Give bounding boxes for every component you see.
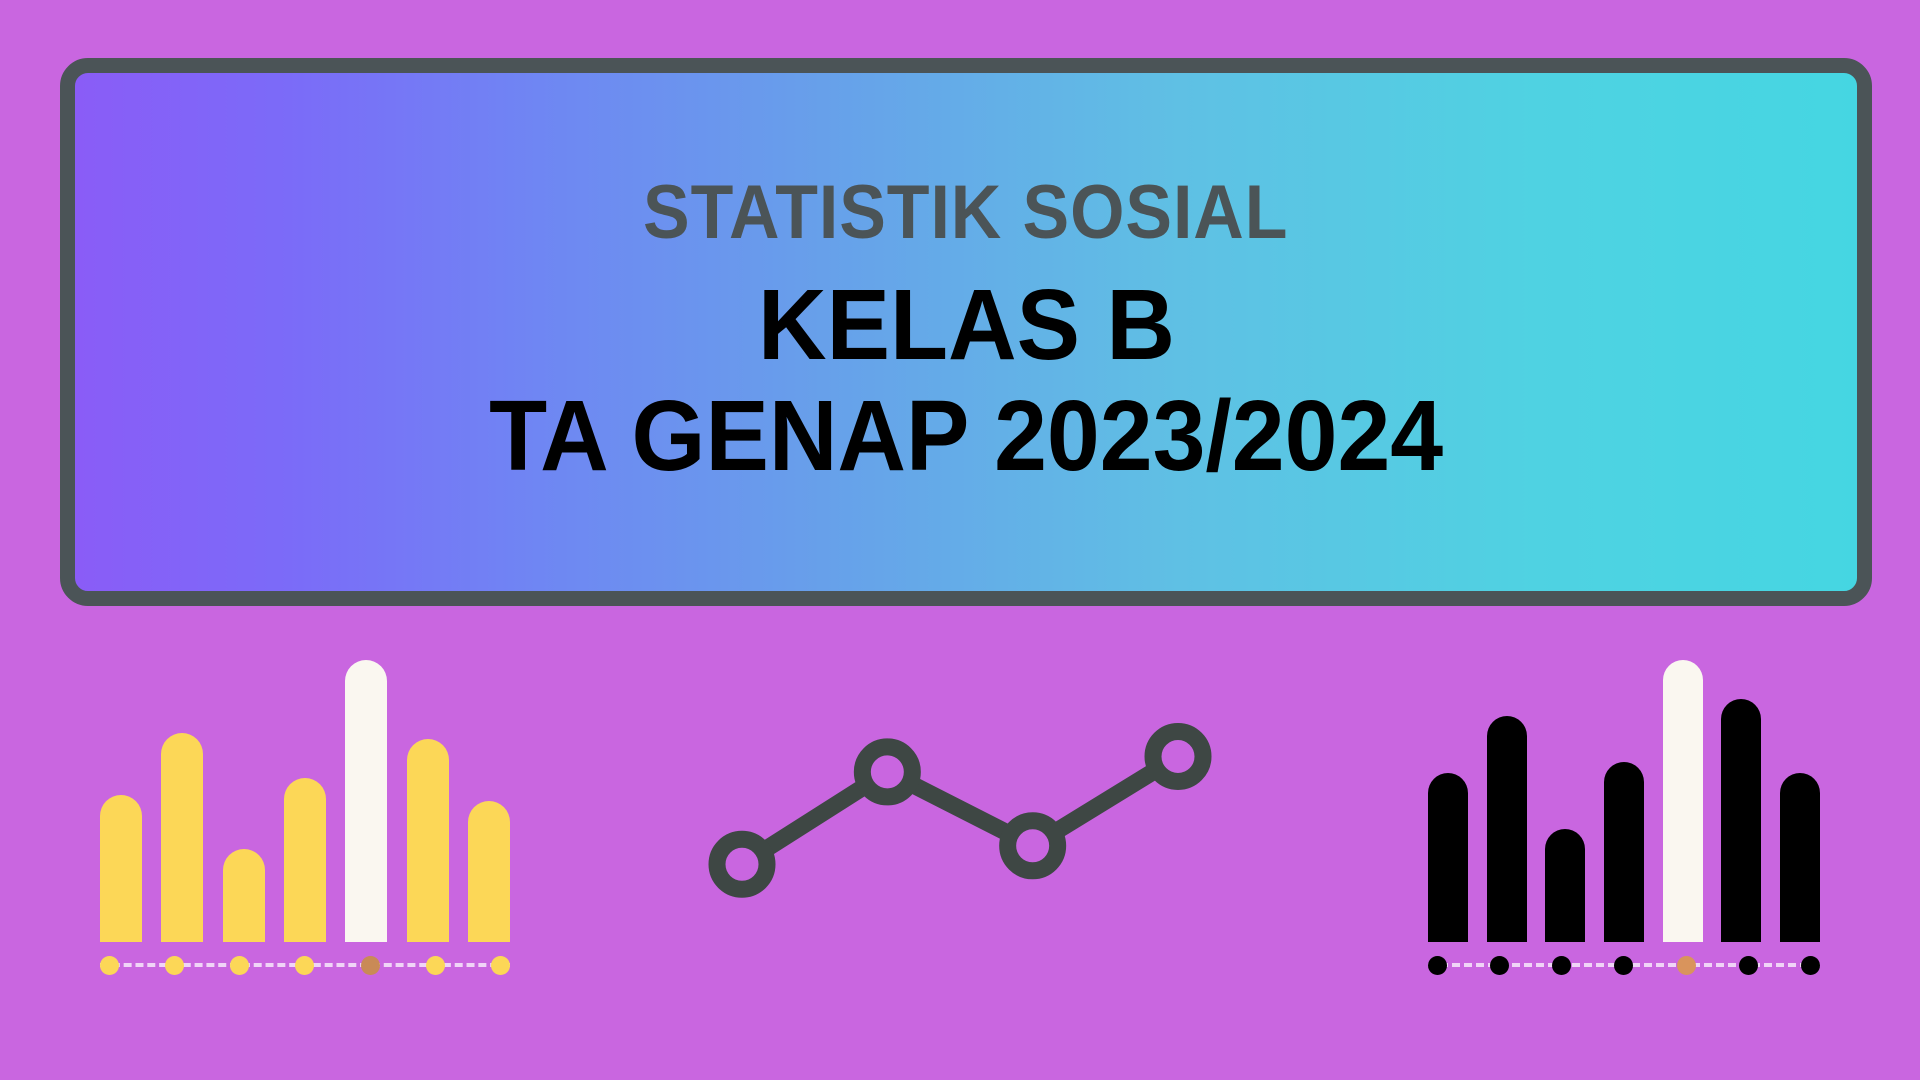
line-marker [1153, 731, 1203, 781]
subtitle-statistik-sosial: STATISTIK SOSIAL [643, 175, 1288, 251]
axis-dot [165, 956, 184, 975]
bar [100, 795, 142, 942]
bar [407, 739, 449, 942]
axis-dot [491, 956, 510, 975]
axis-dot [426, 956, 445, 975]
axis-dot [1614, 956, 1633, 975]
axis [100, 954, 510, 976]
right-bar-chart [1428, 660, 1820, 976]
axis-dot [1552, 956, 1571, 975]
bar [161, 733, 203, 942]
bar [284, 778, 326, 942]
axis-dot [1739, 956, 1758, 975]
bar [223, 849, 265, 942]
axis-dot [295, 956, 314, 975]
bar [1780, 773, 1820, 942]
bar-group [100, 660, 510, 942]
bar [1721, 699, 1761, 942]
bar [345, 660, 387, 942]
line-chart [700, 700, 1220, 930]
page-subtitle-academic-year: TA GENAP 2023/2024 [489, 384, 1443, 489]
bar [1663, 660, 1703, 942]
line-marker [862, 747, 912, 797]
bar-group [1428, 660, 1820, 942]
axis-dot-group [100, 954, 510, 976]
axis-dot [1490, 956, 1509, 975]
axis-dot [1428, 956, 1447, 975]
line-marker [717, 839, 767, 889]
page-title-kelas: KELAS B [758, 273, 1175, 378]
axis-dot [100, 956, 119, 975]
bar [1428, 773, 1468, 942]
axis-dot [1677, 956, 1696, 975]
line-series-path [742, 756, 1178, 864]
hero-card: STATISTIK SOSIAL KELAS B TA GENAP 2023/2… [60, 58, 1872, 606]
axis-dot [1801, 956, 1820, 975]
line-chart-svg [700, 700, 1220, 930]
axis [1428, 954, 1820, 976]
axis-dot-group [1428, 954, 1820, 976]
line-marker [1008, 821, 1058, 871]
axis-dot [361, 956, 380, 975]
left-bar-chart [100, 660, 510, 976]
axis-dot [230, 956, 249, 975]
bar [1604, 762, 1644, 942]
bar [468, 801, 510, 942]
bar [1487, 716, 1527, 942]
bar [1545, 829, 1585, 942]
